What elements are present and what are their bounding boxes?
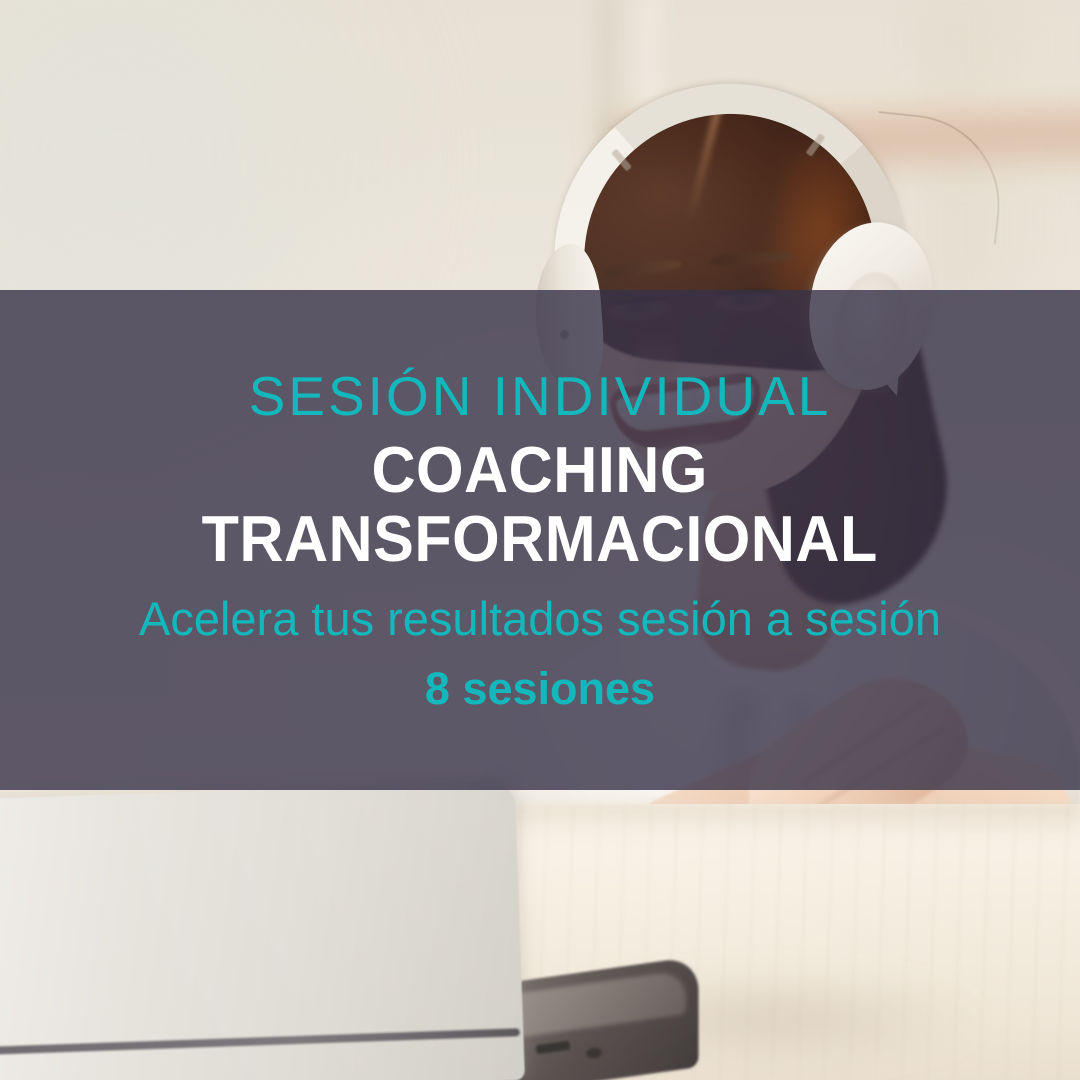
- promo-poster: SESIÓN INDIVIDUAL COACHING TRANSFORMACIO…: [0, 0, 1080, 1080]
- headline-line-2: TRANSFORMACIONAL: [202, 505, 878, 574]
- sessions-count: 8 sesiones: [425, 666, 655, 711]
- headline-line-1: COACHING: [372, 433, 708, 506]
- headline: COACHING TRANSFORMACIONAL: [202, 436, 878, 574]
- text-overlay-band: SESIÓN INDIVIDUAL COACHING TRANSFORMACIO…: [0, 290, 1080, 790]
- eyebrow-label: SESIÓN INDIVIDUAL: [249, 369, 832, 424]
- subtitle: Acelera tus resultados sesión a sesión: [139, 595, 941, 642]
